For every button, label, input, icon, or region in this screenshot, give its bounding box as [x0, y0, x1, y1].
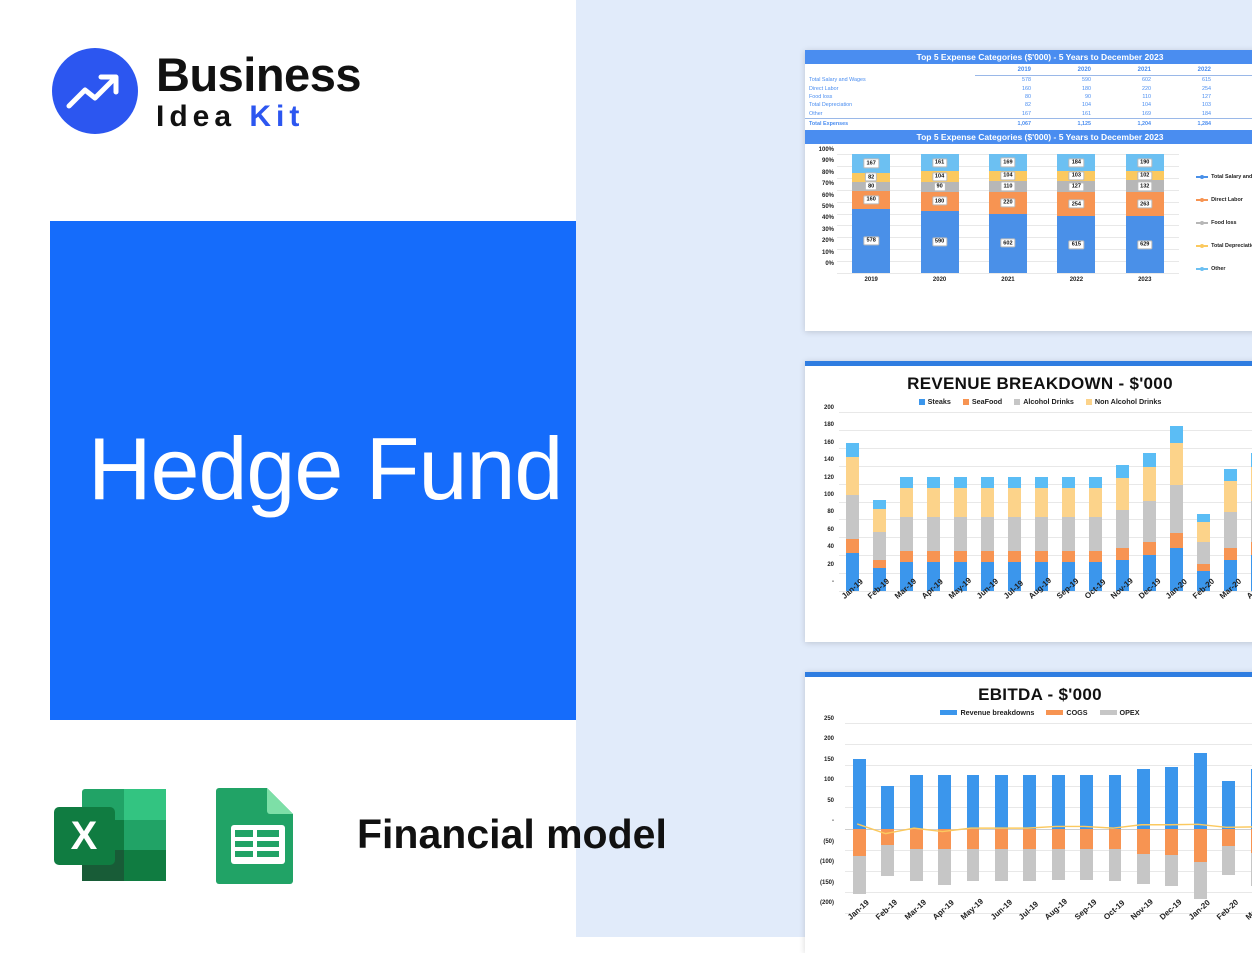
bar-segment [1197, 542, 1210, 565]
bar-segment: 132 [1126, 180, 1164, 192]
bar-segment [1170, 426, 1183, 443]
axis-tick: 20% [807, 238, 837, 244]
expenses-table: 2019 2020 2021 2022 2023 Total Salary an… [805, 64, 1252, 128]
bar-value-label: 104 [1000, 171, 1015, 180]
footer-label: Financial model [357, 811, 667, 858]
bar-segment [900, 477, 913, 489]
bar-segment: 160 [852, 191, 890, 209]
bar-segment [1170, 485, 1183, 534]
bar-segment: 184 [1057, 154, 1095, 171]
bar-value-label: 220 [1000, 198, 1015, 207]
axis-tick: 2023 [1138, 277, 1151, 283]
bar-value-label: 184 [1069, 158, 1084, 167]
revenue-y-axis: 20018016014012010080604020- [807, 408, 837, 588]
bar-segment [1224, 469, 1237, 482]
bar-value-label: 110 [1000, 182, 1015, 191]
ebitda-chart-title: EBITDA - $'000 [805, 677, 1252, 705]
expenses-banner-top: Top 5 Expense Categories ($'000) - 5 Yea… [805, 50, 1252, 64]
gridline [837, 273, 1179, 274]
bar-segment: 190 [1126, 154, 1164, 171]
axis-tick: 0% [807, 261, 837, 267]
axis-tick: 70% [807, 181, 837, 187]
legend-label: Non Alcohol Drinks [1095, 397, 1161, 406]
bar-value-label: 160 [864, 195, 879, 204]
bar-column [1170, 426, 1183, 591]
footer-row: X Financial model [49, 783, 667, 886]
bar-segment [1008, 488, 1021, 517]
bar-column [900, 477, 913, 591]
bar-segment: 110 [989, 181, 1027, 192]
revenue-chart-title: REVENUE BREAKDOWN - $'000 [805, 366, 1252, 394]
table-col-2023: 2023 [1215, 64, 1252, 76]
bar-segment [1035, 477, 1048, 489]
bar-segment [1143, 453, 1156, 467]
legend-swatch [1196, 199, 1208, 202]
axis-tick: (200) [807, 900, 837, 906]
bar-segment [927, 477, 940, 489]
bar-segment [981, 477, 994, 489]
bar-segment [846, 457, 859, 495]
chart-card-revenue[interactable]: REVENUE BREAKDOWN - $'000 SteaksSeaFoodA… [805, 361, 1252, 642]
google-sheets-icon [193, 783, 315, 886]
bar-segment [981, 488, 994, 517]
legend-label: Food loss [1211, 220, 1236, 226]
bar-column: 190102132263629 [1126, 154, 1164, 273]
table-row: Direct Labor 160 180 220 254 263 [805, 84, 1252, 92]
bar-segment [1035, 488, 1048, 517]
bar-column [981, 477, 994, 591]
expenses-x-axis: 20192020202120222023 [837, 274, 1179, 283]
bar-value-label: 180 [932, 197, 947, 206]
bar-segment: 263 [1126, 192, 1164, 216]
bar-segment [1116, 548, 1129, 560]
bar-segment [981, 551, 994, 562]
bar-segment: 102 [1126, 171, 1164, 180]
table-total-row: Total Expenses 1,067 1,125 1,204 1,284 1… [805, 118, 1252, 128]
bar-segment [1116, 478, 1129, 510]
bar-value-label: 590 [932, 237, 947, 246]
axis-tick: 2021 [1001, 277, 1014, 283]
ebitda-line-series [845, 723, 1252, 913]
page-title: Hedge Fund [88, 425, 562, 513]
axis-tick: 160 [807, 440, 837, 446]
bar-segment: 104 [989, 171, 1027, 181]
axis-tick: 20 [807, 562, 837, 568]
legend-label: Total Salary and Wages [1211, 174, 1252, 180]
ebitda-legend: Revenue breakdownsCOGSOPEX [805, 705, 1252, 719]
bar-value-label: 104 [932, 172, 947, 181]
legend-label: Revenue breakdowns [960, 708, 1034, 717]
bar-segment [927, 517, 940, 551]
legend-item: Non Alcohol Drinks [1086, 397, 1161, 406]
table-col-2020: 2020 [1035, 64, 1095, 76]
bar-column [1062, 477, 1075, 591]
bar-segment: 180 [921, 192, 959, 211]
legend-label: OPEX [1120, 708, 1140, 717]
bar-segment [1224, 481, 1237, 512]
legend-item: Steaks [919, 397, 951, 406]
revenue-x-axis: Jan-19Feb-19Mar-19Apr-19May-19Jun-19Jul-… [839, 592, 1252, 603]
bar-segment: 169 [989, 154, 1027, 171]
axis-tick: 2022 [1070, 277, 1083, 283]
table-col-2022: 2022 [1155, 64, 1215, 76]
axis-tick: 40 [807, 544, 837, 550]
bar-value-label: 132 [1137, 182, 1152, 191]
bar-segment [954, 551, 967, 562]
axis-tick: 140 [807, 457, 837, 463]
bar-segment [900, 517, 913, 551]
bar-value-label: 190 [1137, 158, 1152, 167]
axis-tick: 250 [807, 716, 837, 722]
legend-swatch [1196, 245, 1208, 248]
axis-tick: 100 [807, 777, 837, 783]
growth-arrow-circle-icon [52, 48, 138, 134]
bar-segment [846, 539, 859, 553]
bar-column [1035, 477, 1048, 591]
bar-segment [954, 488, 967, 517]
bar-segment [1197, 564, 1210, 571]
legend-label: Other [1211, 266, 1225, 272]
legend-swatch [1100, 710, 1117, 715]
axis-tick: 40% [807, 215, 837, 221]
bar-segment [1197, 514, 1210, 522]
bar-segment [1170, 443, 1183, 484]
table-col-2021: 2021 [1095, 64, 1155, 76]
bar-segment [1035, 517, 1048, 551]
bar-segment [873, 532, 886, 560]
bar-segment: 220 [989, 192, 1027, 214]
bar-segment: 590 [921, 211, 959, 273]
ebitda-plot: 25020015010050-(50)(100)(150)(200) Jan-1… [805, 719, 1252, 941]
bar-segment [873, 560, 886, 568]
axis-tick: - [807, 818, 837, 824]
axis-tick: 100% [807, 147, 837, 153]
bar-value-label: 161 [932, 158, 947, 167]
bar-segment [1062, 517, 1075, 551]
bar-segment: 167 [852, 154, 890, 173]
ebitda-x-axis: Jan-19Feb-19Mar-19Apr-19May-19Jun-19Jul-… [845, 913, 1252, 924]
axis-tick: 50% [807, 204, 837, 210]
bar-column [1116, 465, 1129, 591]
bar-segment [846, 443, 859, 457]
bar-value-label: 127 [1069, 182, 1084, 191]
bar-segment [1008, 517, 1021, 551]
bar-value-label: 615 [1069, 240, 1084, 249]
legend-item: Alcohol Drinks [1014, 397, 1074, 406]
bar-segment [1089, 488, 1102, 517]
legend-label: SeaFood [972, 397, 1002, 406]
table-row: Total Salary and Wages 578 590 602 615 6… [805, 76, 1252, 85]
bar-segment: 127 [1057, 181, 1095, 193]
legend-item: OPEX [1100, 708, 1140, 717]
brand-subtitle-accent: Kit [249, 100, 304, 133]
bar-segment: 82 [852, 173, 890, 182]
background-white-gutter [0, 221, 50, 720]
bar-segment [1143, 501, 1156, 542]
legend-label: Steaks [928, 397, 951, 406]
legend-label: COGS [1066, 708, 1087, 717]
bar-column [846, 443, 859, 591]
bar-segment [1035, 551, 1048, 562]
bar-segment [873, 509, 886, 532]
legend-item: Revenue breakdowns [940, 708, 1034, 717]
bar-segment [1224, 512, 1237, 548]
axis-tick: 50 [807, 798, 837, 804]
bar-value-label: 90 [933, 182, 945, 191]
bar-value-label: 169 [1000, 158, 1015, 167]
axis-tick: 60 [807, 527, 837, 533]
bar-segment [1062, 551, 1075, 562]
bar-value-label: 80 [865, 182, 877, 191]
bar-value-label: 254 [1069, 200, 1084, 209]
brand-subtitle-main: Idea [156, 100, 236, 133]
legend-item: SeaFood [963, 397, 1002, 406]
axis-tick: 30% [807, 227, 837, 233]
axis-tick: 90% [807, 158, 837, 164]
bar-value-label: 82 [865, 173, 877, 182]
legend-swatch [1046, 710, 1063, 715]
bar-column [1089, 477, 1102, 591]
expenses-y-axis: 100%90%80%70%60%50%40%30%20%10%0% [807, 150, 837, 270]
axis-tick: 180 [807, 422, 837, 428]
brand-title: Business [156, 51, 361, 98]
bar-column: 16110490180590 [921, 154, 959, 273]
expenses-legend: Total Salary and WagesDirect LaborFood l… [1196, 174, 1252, 272]
axis-tick: 200 [807, 736, 837, 742]
bar-segment [900, 551, 913, 562]
axis-tick: 80% [807, 170, 837, 176]
bar-segment [1170, 533, 1183, 547]
legend-label: Direct Labor [1211, 197, 1243, 203]
table-header-row: 2019 2020 2021 2022 2023 [805, 64, 1252, 76]
legend-item: COGS [1046, 708, 1087, 717]
legend-item: Total Depreciation [1196, 243, 1252, 249]
legend-swatch [1196, 176, 1208, 179]
bar-column [1143, 453, 1156, 591]
legend-item: Direct Labor [1196, 197, 1252, 203]
legend-swatch [1086, 399, 1092, 405]
axis-tick: 2020 [933, 277, 946, 283]
bar-segment: 103 [1057, 171, 1095, 181]
bar-column [927, 477, 940, 591]
legend-label: Total Depreciation [1211, 243, 1252, 249]
bar-segment: 629 [1126, 216, 1164, 273]
bar-segment: 254 [1057, 192, 1095, 216]
axis-tick: 150 [807, 757, 837, 763]
axis-tick: 10% [807, 250, 837, 256]
legend-label: Alcohol Drinks [1023, 397, 1074, 406]
bar-segment [1224, 548, 1237, 560]
bar-column [1224, 469, 1237, 591]
axis-tick: (100) [807, 859, 837, 865]
bar-segment [1116, 510, 1129, 548]
microsoft-excel-icon: X [49, 783, 171, 886]
revenue-plot: 20018016014012010080604020- Jan-19Feb-19… [805, 408, 1252, 626]
bar-value-label: 103 [1069, 171, 1084, 180]
bar-segment: 602 [989, 214, 1027, 273]
expenses-banner-mid: Top 5 Expense Categories ($'000) - 5 Yea… [805, 130, 1252, 144]
table-row: Other 167 161 169 184 190 [805, 110, 1252, 119]
legend-swatch [1196, 268, 1208, 271]
axis-tick: (150) [807, 880, 837, 886]
legend-swatch [963, 399, 969, 405]
brand-subtitle: Idea Kit [156, 102, 361, 132]
svg-text:X: X [71, 814, 98, 858]
bar-segment [1116, 465, 1129, 478]
bar-segment [1143, 542, 1156, 555]
table-col-label [805, 64, 975, 76]
bar-segment [1062, 477, 1075, 489]
bar-segment [873, 500, 886, 509]
bar-column: 1678280160578 [852, 154, 890, 273]
axis-tick: - [807, 579, 837, 585]
bar-segment [1089, 477, 1102, 489]
bar-value-label: 167 [864, 159, 879, 168]
legend-item: Food loss [1196, 220, 1252, 226]
bar-segment [954, 477, 967, 489]
legend-swatch [919, 399, 925, 405]
bar-segment [954, 517, 967, 551]
axis-tick: 60% [807, 193, 837, 199]
bar-segment: 80 [852, 182, 890, 191]
legend-swatch [1014, 399, 1020, 405]
bar-segment [927, 488, 940, 517]
bar-segment [1062, 488, 1075, 517]
legend-swatch [940, 710, 957, 715]
bar-segment: 104 [921, 171, 959, 182]
bar-column: 184103127254615 [1057, 154, 1095, 273]
axis-tick: 120 [807, 475, 837, 481]
bar-segment [846, 495, 859, 539]
legend-swatch [1196, 222, 1208, 225]
bar-column [954, 477, 967, 591]
chart-card-expenses[interactable]: Top 5 Expense Categories ($'000) - 5 Yea… [805, 50, 1252, 331]
chart-card-ebitda[interactable]: EBITDA - $'000 Revenue breakdownsCOGSOPE… [805, 672, 1252, 953]
bar-column [1008, 477, 1021, 591]
bar-segment: 90 [921, 182, 959, 192]
table-col-2019: 2019 [975, 64, 1035, 76]
bar-segment [1008, 477, 1021, 489]
bar-segment [927, 551, 940, 562]
bar-value-label: 263 [1137, 200, 1152, 209]
bar-value-label: 629 [1137, 240, 1152, 249]
bar-value-label: 602 [1000, 239, 1015, 248]
expenses-plot: 100%90%80%70%60%50%40%30%20%10%0% 167828… [805, 144, 1252, 284]
bar-segment [1089, 517, 1102, 551]
table-row: Food loss 80 90 110 127 132 [805, 93, 1252, 101]
ebitda-y-axis: 25020015010050-(50)(100)(150)(200) [807, 719, 837, 909]
table-row: Total Depreciation 82 104 104 103 102 [805, 101, 1252, 109]
bar-segment [1008, 551, 1021, 562]
bar-column: 169104110220602 [989, 154, 1027, 273]
legend-item: Other [1196, 266, 1252, 272]
bar-segment [1143, 467, 1156, 501]
legend-item: Total Salary and Wages [1196, 174, 1252, 180]
bar-segment: 161 [921, 154, 959, 171]
axis-tick: 100 [807, 492, 837, 498]
brand-logo: Business Idea Kit [52, 48, 361, 134]
axis-tick: (50) [807, 839, 837, 845]
bar-segment: 578 [852, 209, 890, 273]
bar-segment [1197, 522, 1210, 542]
bar-value-label: 578 [864, 236, 879, 245]
axis-tick: 2019 [865, 277, 878, 283]
bar-segment [900, 488, 913, 517]
axis-tick: 80 [807, 509, 837, 515]
bar-segment: 615 [1057, 216, 1095, 273]
bar-segment [981, 517, 994, 551]
bar-segment [1089, 551, 1102, 562]
revenue-legend: SteaksSeaFoodAlcohol DrinksNon Alcohol D… [805, 394, 1252, 408]
bar-value-label: 102 [1137, 171, 1152, 180]
axis-tick: 200 [807, 405, 837, 411]
